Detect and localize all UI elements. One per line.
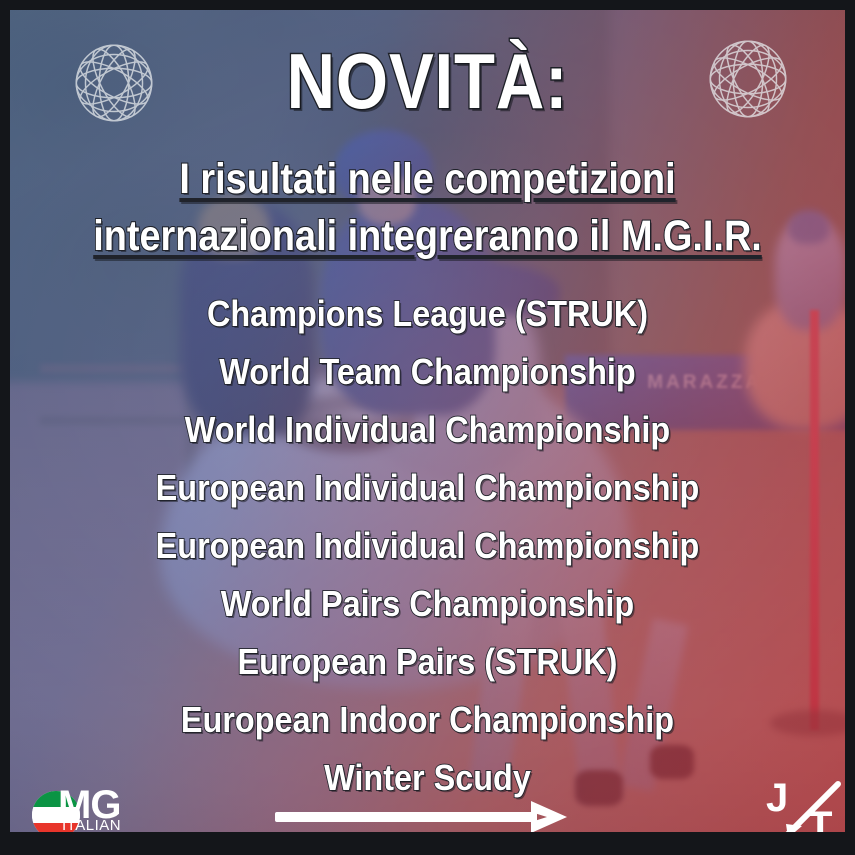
poster-inner-frame: MARAZZATO bbox=[10, 10, 845, 832]
list-item: European Individual Championship bbox=[52, 459, 804, 517]
list-item: Champions League (STRUK) bbox=[52, 285, 804, 343]
list-item: European Pairs (STRUK) bbox=[52, 633, 804, 691]
poster-image: MARAZZATO bbox=[0, 0, 855, 855]
list-item: European Indoor Championship bbox=[52, 691, 804, 749]
list-item: World Pairs Championship bbox=[52, 575, 804, 633]
poster-content: NOVITÀ: I risultati nelle competizioni i… bbox=[10, 10, 845, 832]
jt-logo: J T bbox=[762, 780, 845, 832]
mg-logo-subtitle: ITALIAN RANKING bbox=[62, 818, 134, 832]
lance-diagonal-icon bbox=[762, 780, 845, 832]
subtitle-line-1: I risultati nelle competizioni bbox=[60, 151, 795, 208]
subtitle: I risultati nelle competizioni internazi… bbox=[60, 151, 795, 265]
list-item: World Team Championship bbox=[52, 343, 804, 401]
mg-italian-ranking-logo: MG ITALIAN RANKING bbox=[18, 787, 146, 832]
arrow-right-icon bbox=[275, 800, 575, 832]
competition-list: Champions League (STRUK) World Team Cham… bbox=[10, 285, 845, 807]
list-item: European Individual Championship bbox=[52, 517, 804, 575]
list-item: Winter Scudy bbox=[52, 749, 804, 807]
list-item: World Individual Championship bbox=[52, 401, 804, 459]
mg-logo-subtitle-line1: ITALIAN bbox=[62, 818, 134, 832]
subtitle-line-2: internazionali integreranno il M.G.I.R. bbox=[60, 208, 795, 265]
page-title: NOVITÀ: bbox=[68, 44, 786, 118]
